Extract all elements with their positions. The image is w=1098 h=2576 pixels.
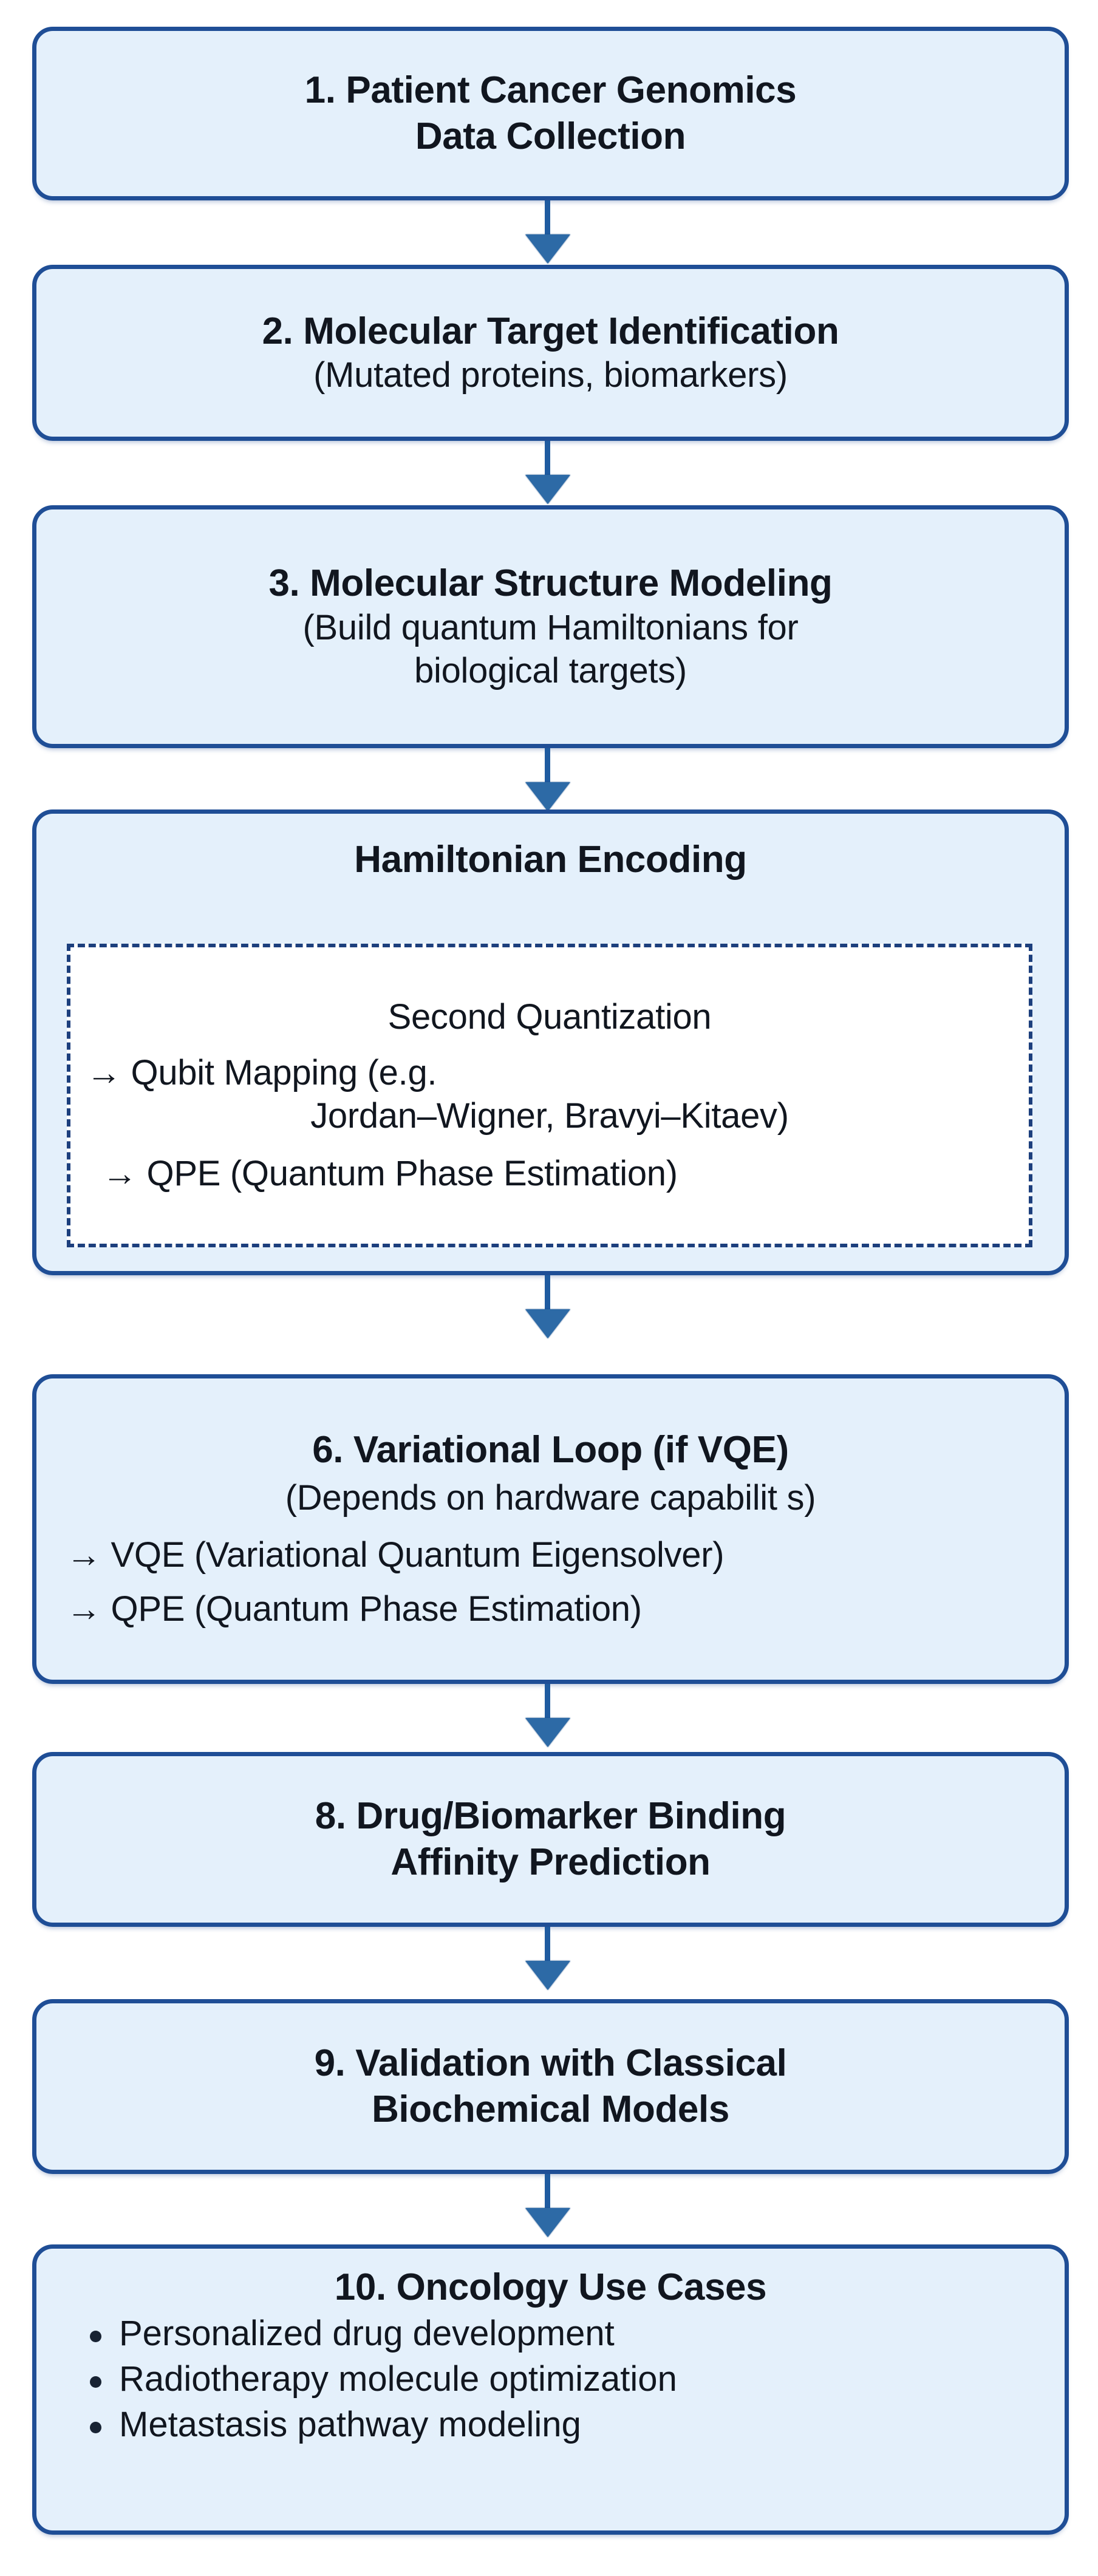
connector-6-8-arrowhead [525,1718,570,1747]
list-item[interactable]: Radiotherapy molecule optimization [52,2356,1049,2402]
list-item[interactable]: Personalized drug development [52,2311,1049,2356]
node-oncology-use-cases[interactable]: 10. Oncology Use Cases Personalized drug… [32,2244,1069,2535]
connector-2-3-arrowhead [525,475,570,504]
node-1-line-2: Data Collection [52,114,1049,160]
node-9-line-2: Biochemical Models [52,2087,1049,2133]
node-6-line-2: (Depends on hardware capabilit s) [52,1477,1049,1520]
node-8-line-1: 8. Drug/Biomarker Binding [52,1793,1049,1839]
node-8-line-2: Affinity Prediction [52,1839,1049,1886]
flowchart-canvas: 1. Patient Cancer Genomics Data Collecti… [0,0,1098,2576]
panel-line-jordan-wigner: Jordan–Wigner, Bravyi–Kitaev) [86,1095,1013,1138]
connector-4-6-arrowhead [525,1309,570,1338]
connector-9-10-arrowhead [525,2208,570,2237]
node-variational-loop[interactable]: 6. Variational Loop (if VQE) (Depends on… [32,1374,1069,1684]
panel-line-second-quantization: Second Quantization [86,996,1013,1039]
node-2-line-2: (Mutated proteins, biomarkers) [52,354,1049,397]
oncology-use-cases-heading: 10. Oncology Use Cases [52,2264,1049,2311]
node-3-line-1: 3. Molecular Structure Modeling [52,561,1049,607]
node-1-line-1: 1. Patient Cancer Genomics [52,67,1049,114]
panel-line-qpe: → QPE (Quantum Phase Estimation) [102,1153,1029,1196]
hamiltonian-encoding-detail-panel[interactable]: Second Quantization → Qubit Mapping (e.g… [67,944,1032,1247]
node-2-line-1: 2. Molecular Target Identification [52,308,1049,355]
node-6-line-vqe: → VQE (Variational Quantum Eigensolver) [38,1534,1063,1577]
node-6-line-1: 6. Variational Loop (if VQE) [52,1427,1049,1473]
connector-1-2-arrowhead [525,234,570,264]
node-molecular-target-identification[interactable]: 2. Molecular Target Identification (Muta… [32,265,1069,441]
node-9-line-1: 9. Validation with Classical [52,2040,1049,2087]
node-patient-cancer-genomics-data-collection[interactable]: 1. Patient Cancer Genomics Data Collecti… [32,27,1069,200]
node-3-line-2: (Build quantum Hamiltonians for [52,607,1049,650]
oncology-use-cases-list: Personalized drug development Radiothera… [52,2311,1049,2448]
list-item[interactable]: Metastasis pathway modeling [52,2402,1049,2447]
node-3-line-3: biological targets) [52,650,1049,693]
hamiltonian-encoding-heading: Hamiltonian Encoding [52,837,1049,883]
node-drug-biomarker-binding-affinity-prediction[interactable]: 8. Drug/Biomarker Binding Affinity Predi… [32,1752,1069,1927]
node-validation-with-classical-biochemical-models[interactable]: 9. Validation with Classical Biochemical… [32,1999,1069,2174]
connector-3-4-arrowhead [525,782,570,811]
connector-8-9-arrowhead [525,1961,570,1990]
node-6-line-qpe: → QPE (Quantum Phase Estimation) [38,1588,1063,1631]
panel-line-qubit-mapping: → Qubit Mapping (e.g. [86,1052,1013,1095]
node-molecular-structure-modeling[interactable]: 3. Molecular Structure Modeling (Build q… [32,505,1069,748]
